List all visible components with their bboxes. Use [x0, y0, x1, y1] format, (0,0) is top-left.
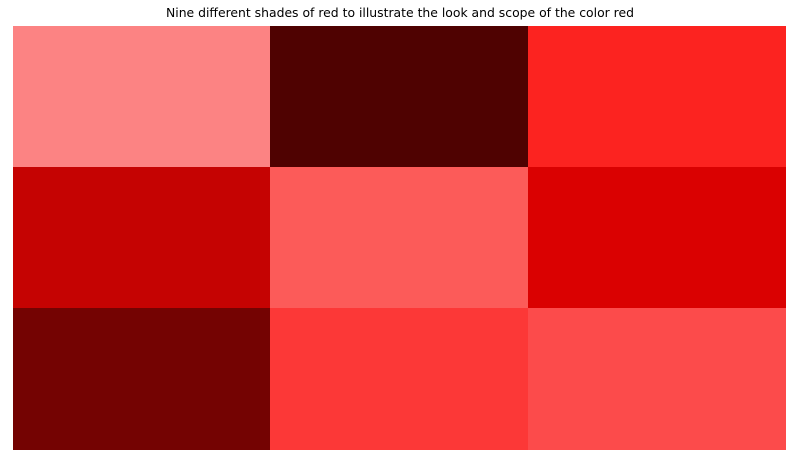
color-swatch-6 [13, 308, 270, 450]
color-swatch-1 [270, 26, 528, 167]
page-title: Nine different shades of red to illustra… [0, 0, 800, 26]
color-swatch-grid [13, 26, 786, 450]
color-swatch-8 [528, 308, 786, 450]
color-swatch-0 [13, 26, 270, 167]
color-swatch-3 [13, 167, 270, 308]
color-swatch-2 [528, 26, 786, 167]
color-swatch-figure: Nine different shades of red to illustra… [0, 0, 800, 450]
color-swatch-4 [270, 167, 528, 308]
color-swatch-7 [270, 308, 528, 450]
color-swatch-5 [528, 167, 786, 308]
